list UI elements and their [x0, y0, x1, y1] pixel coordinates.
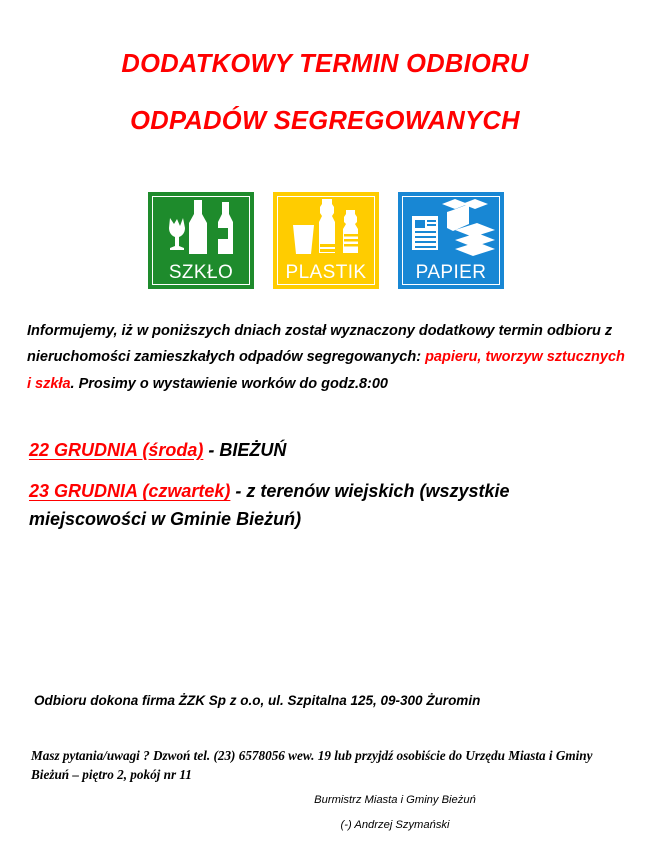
- plastic-bottles-icon: [273, 196, 379, 258]
- panel-plastic: PLASTIK: [273, 192, 379, 289]
- date-row: 22 GRUDNIA (środa) - BIEŻUŃ: [29, 437, 629, 464]
- panel-label-glass: SZKŁO: [148, 263, 254, 282]
- signature-block: Burmistrz Miasta i Gminy Bieżuń (-) Andr…: [0, 795, 650, 831]
- signature-name: (-) Andrzej Szymański: [140, 820, 650, 831]
- date-location: - BIEŻUŃ: [203, 440, 286, 460]
- signature-role: Burmistrz Miasta i Gminy Bieżuń: [140, 795, 650, 806]
- recycling-panels: SZKŁO PLASTIK: [148, 192, 504, 289]
- paper-stack-icon: [398, 196, 504, 258]
- panel-paper: PAPIER: [398, 192, 504, 289]
- panel-label-paper: PAPIER: [398, 263, 504, 282]
- title-line-2: ODPADÓW SEGREGOWANYCH: [0, 109, 650, 135]
- operator-note: Odbioru dokona firma ŻZK Sp z o.o, ul. S…: [34, 692, 634, 711]
- glass-bottles-icon: [148, 196, 254, 258]
- title-line-1: DODATKOWY TERMIN ODBIORU: [0, 52, 650, 78]
- page-title: DODATKOWY TERMIN ODBIORU ODPADÓW SEGREGO…: [0, 52, 650, 134]
- panel-glass: SZKŁO: [148, 192, 254, 289]
- intro-part-2: . Prosimy o wystawienie worków do godz.8…: [71, 376, 388, 392]
- collection-dates: 22 GRUDNIA (środa) - BIEŻUŃ 23 GRUDNIA (…: [29, 437, 629, 533]
- contact-note: Masz pytania/uwagi ? Dzwoń tel. (23) 657…: [31, 747, 623, 784]
- panel-label-plastic: PLASTIK: [273, 263, 379, 282]
- intro-paragraph: Informujemy, iż w poniższych dniach zost…: [27, 318, 627, 397]
- date-key: 22 GRUDNIA (środa): [29, 440, 203, 460]
- date-key: 23 GRUDNIA (czwartek): [29, 481, 230, 501]
- announcement-page: DODATKOWY TERMIN ODBIORU ODPADÓW SEGREGO…: [0, 0, 650, 848]
- date-row: 23 GRUDNIA (czwartek) - z terenów wiejsk…: [29, 478, 629, 533]
